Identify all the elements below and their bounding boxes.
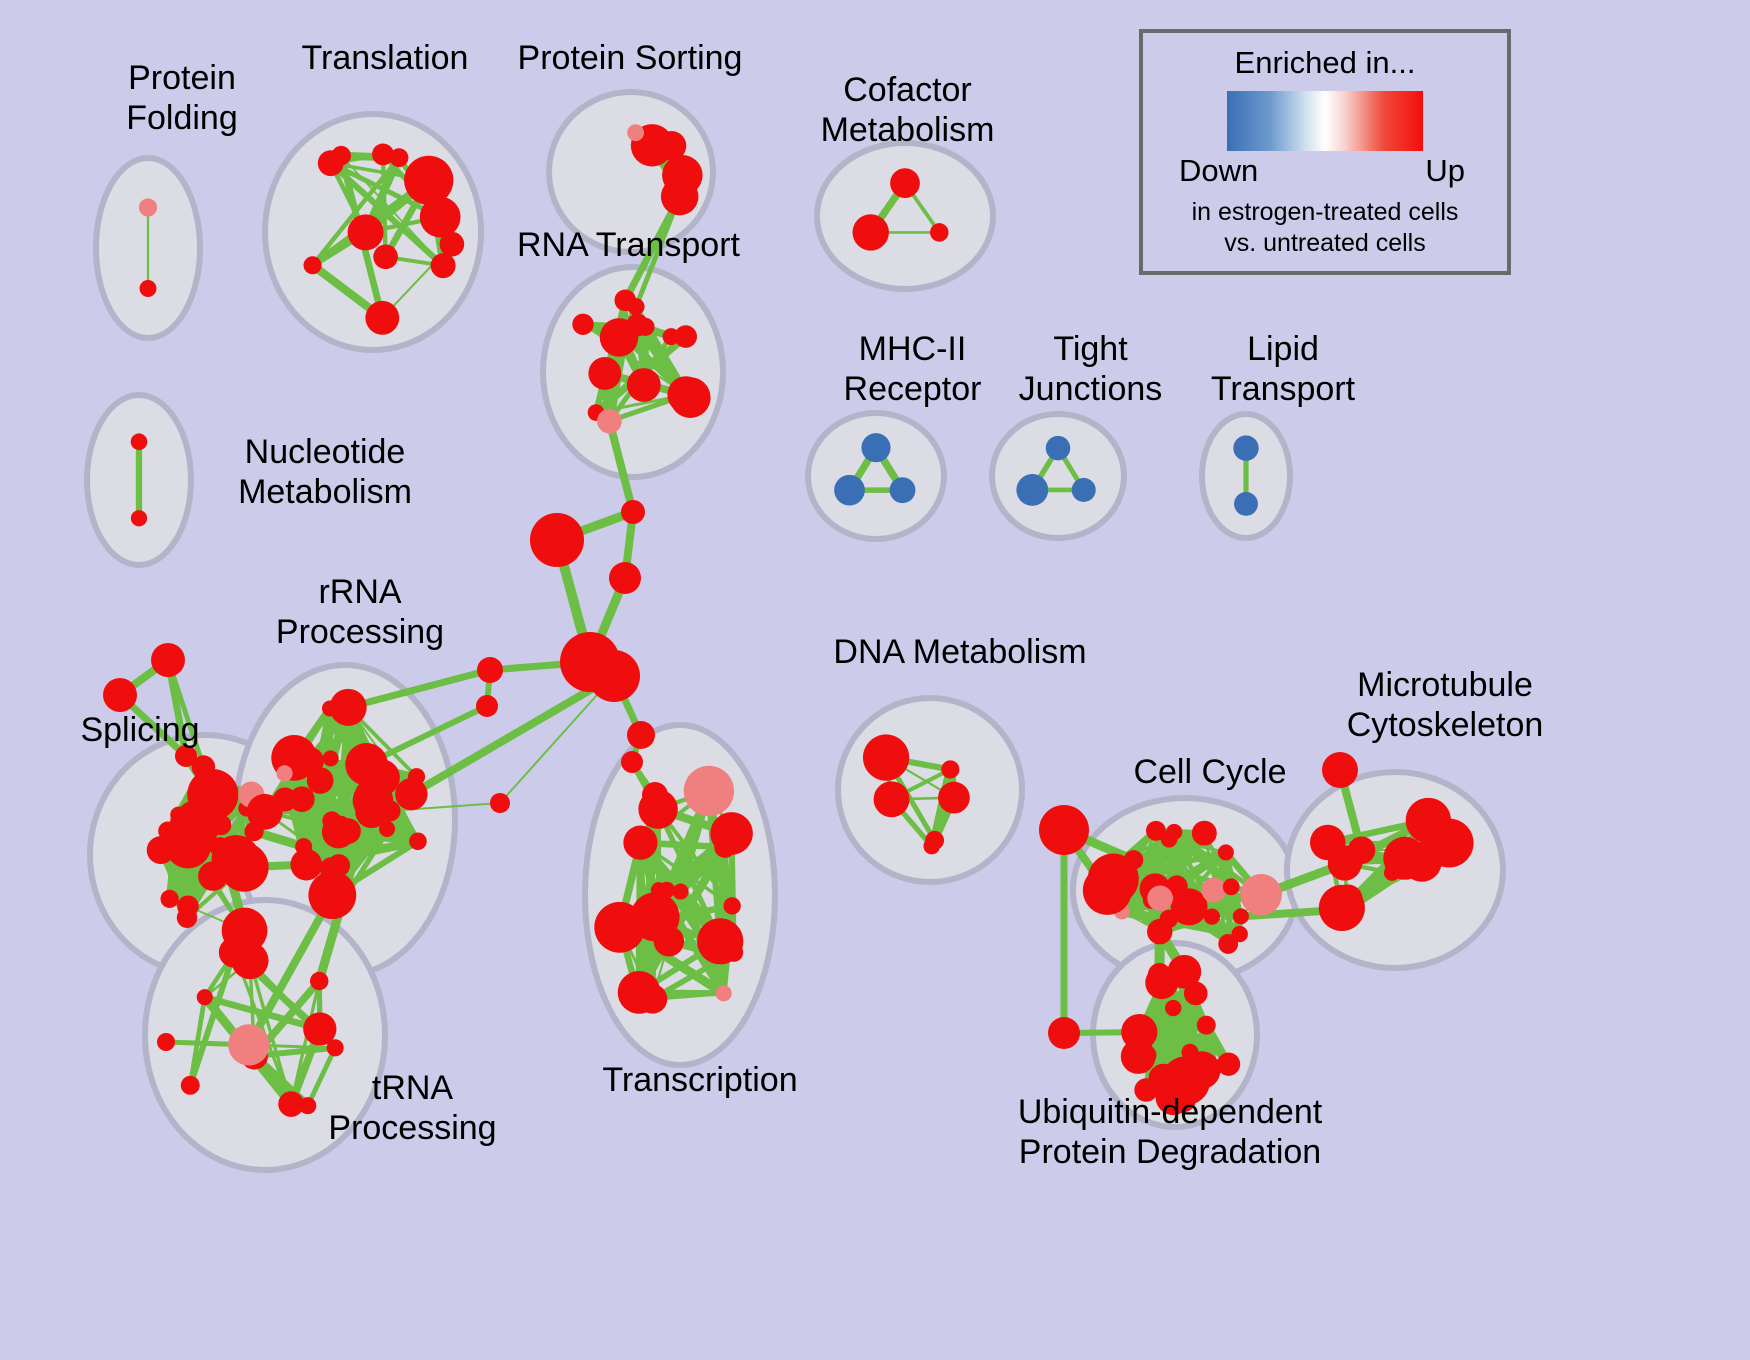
- cluster-label-transcription: Transcription: [570, 1060, 830, 1100]
- network-node[interactable]: [890, 477, 916, 503]
- network-node[interactable]: [1072, 478, 1096, 502]
- network-node[interactable]: [673, 884, 689, 900]
- network-node[interactable]: [630, 987, 646, 1003]
- network-node[interactable]: [1446, 841, 1463, 858]
- network-node[interactable]: [147, 836, 175, 864]
- cluster-label-translation: Translation: [265, 38, 505, 78]
- network-node[interactable]: [874, 781, 910, 817]
- network-node[interactable]: [353, 780, 394, 821]
- network-node[interactable]: [170, 812, 188, 830]
- network-node[interactable]: [674, 325, 697, 348]
- network-node[interactable]: [1233, 435, 1258, 460]
- cluster-ellipse-tight-junctions: [992, 414, 1124, 538]
- cluster-label-trna-processing: tRNA Processing: [305, 1068, 520, 1148]
- legend-up-label: Up: [1425, 153, 1465, 189]
- cluster-label-cell-cycle: Cell Cycle: [1100, 752, 1320, 792]
- network-node[interactable]: [631, 892, 680, 941]
- network-node[interactable]: [1181, 1044, 1198, 1061]
- network-node[interactable]: [1159, 910, 1177, 928]
- network-node[interactable]: [723, 897, 740, 914]
- network-node[interactable]: [440, 232, 465, 257]
- network-node[interactable]: [1402, 842, 1442, 882]
- network-node[interactable]: [348, 214, 384, 250]
- network-node[interactable]: [197, 989, 213, 1005]
- legend-colorbar: [1227, 91, 1423, 151]
- network-node[interactable]: [890, 168, 920, 198]
- cluster-label-splicing: Splicing: [50, 710, 230, 750]
- cluster-label-ubiquitin-protein-degradation: Ubiquitin-dependent Protein Degradation: [985, 1092, 1355, 1172]
- network-node[interactable]: [409, 833, 427, 851]
- network-node[interactable]: [667, 376, 704, 413]
- network-node[interactable]: [1126, 1050, 1142, 1066]
- network-node[interactable]: [600, 318, 639, 357]
- network-node[interactable]: [1223, 878, 1240, 895]
- network-node[interactable]: [834, 475, 865, 506]
- network-node[interactable]: [1039, 805, 1089, 855]
- network-node[interactable]: [404, 156, 453, 205]
- network-node[interactable]: [1197, 1016, 1216, 1035]
- cluster-label-protein-folding: Protein Folding: [72, 58, 292, 138]
- network-node[interactable]: [276, 765, 292, 781]
- network-node[interactable]: [431, 253, 456, 278]
- network-node[interactable]: [861, 433, 890, 462]
- network-node[interactable]: [1206, 1059, 1223, 1076]
- network-node[interactable]: [228, 1024, 269, 1065]
- network-node[interactable]: [181, 1076, 200, 1095]
- network-node[interactable]: [662, 155, 703, 196]
- network-node[interactable]: [627, 368, 661, 402]
- network-node[interactable]: [1048, 1017, 1080, 1049]
- network-node[interactable]: [379, 821, 395, 837]
- network-node[interactable]: [938, 782, 970, 814]
- network-node[interactable]: [408, 768, 425, 785]
- network-node[interactable]: [278, 1091, 304, 1117]
- network-node[interactable]: [322, 815, 355, 848]
- network-node[interactable]: [597, 409, 622, 434]
- network-node[interactable]: [621, 751, 643, 773]
- network-node[interactable]: [651, 882, 667, 898]
- network-node[interactable]: [1384, 865, 1400, 881]
- network-node[interactable]: [345, 743, 388, 786]
- cluster-ellipse-mhc-ii-receptor: [808, 413, 944, 539]
- network-node[interactable]: [852, 214, 888, 250]
- network-node[interactable]: [295, 838, 312, 855]
- network-node[interactable]: [219, 937, 250, 968]
- network-node[interactable]: [638, 789, 677, 828]
- network-node[interactable]: [157, 1033, 175, 1051]
- network-node[interactable]: [177, 907, 197, 927]
- cluster-label-dna-metabolism: DNA Metabolism: [810, 632, 1110, 672]
- network-node[interactable]: [1322, 752, 1358, 788]
- cluster-ellipse-cofactor-metabolism: [817, 143, 993, 289]
- network-node[interactable]: [307, 767, 334, 794]
- network-node[interactable]: [1083, 866, 1132, 915]
- network-node[interactable]: [140, 280, 157, 297]
- network-node[interactable]: [623, 826, 657, 860]
- network-node[interactable]: [572, 314, 593, 335]
- network-node[interactable]: [724, 943, 743, 962]
- network-node[interactable]: [365, 301, 399, 335]
- network-node[interactable]: [131, 433, 148, 450]
- network-node[interactable]: [1201, 878, 1226, 903]
- network-node[interactable]: [476, 695, 498, 717]
- network-node[interactable]: [530, 513, 584, 567]
- legend-down-label: Down: [1179, 153, 1258, 189]
- network-node[interactable]: [323, 750, 339, 766]
- network-node[interactable]: [303, 1012, 336, 1045]
- cluster-label-rna-transport: RNA Transport: [486, 225, 771, 265]
- network-node[interactable]: [627, 721, 655, 749]
- network-node[interactable]: [684, 766, 734, 816]
- cluster-label-cofactor-metabolism: Cofactor Metabolism: [790, 70, 1025, 150]
- network-node[interactable]: [1165, 1000, 1181, 1016]
- network-node[interactable]: [372, 143, 394, 165]
- network-node[interactable]: [161, 890, 179, 908]
- network-node[interactable]: [609, 562, 641, 594]
- network-node[interactable]: [273, 787, 297, 811]
- cluster-ellipse-dna-metabolism: [838, 698, 1022, 882]
- network-node[interactable]: [863, 734, 909, 780]
- network-node[interactable]: [304, 256, 322, 274]
- network-node[interactable]: [373, 244, 398, 269]
- network-node[interactable]: [131, 510, 147, 526]
- cluster-label-protein-sorting: Protein Sorting: [490, 38, 770, 78]
- network-node[interactable]: [1192, 821, 1217, 846]
- network-node[interactable]: [1145, 966, 1178, 999]
- network-node[interactable]: [930, 223, 949, 242]
- network-node[interactable]: [1147, 886, 1173, 912]
- cluster-label-lipid-transport: Lipid Transport: [1178, 329, 1388, 409]
- network-node[interactable]: [1234, 492, 1258, 516]
- cluster-label-nucleotide-metabolism: Nucleotide Metabolism: [200, 432, 450, 512]
- network-node[interactable]: [1204, 909, 1220, 925]
- network-node[interactable]: [151, 643, 185, 677]
- network-node[interactable]: [1016, 474, 1048, 506]
- network-node[interactable]: [941, 760, 959, 778]
- network-node[interactable]: [627, 124, 644, 141]
- edge: [411, 676, 614, 794]
- network-node[interactable]: [923, 838, 940, 855]
- network-node[interactable]: [209, 837, 229, 857]
- network-figure: Enriched in... Down Up in estrogen-treat…: [0, 0, 1750, 1360]
- network-node[interactable]: [1310, 825, 1346, 861]
- network-node[interactable]: [1240, 874, 1282, 916]
- network-node[interactable]: [627, 298, 644, 315]
- legend-caption: in estrogen-treated cells vs. untreated …: [1143, 197, 1507, 259]
- network-node[interactable]: [327, 854, 350, 877]
- network-node[interactable]: [1326, 899, 1357, 930]
- network-node[interactable]: [716, 985, 732, 1001]
- network-node[interactable]: [621, 500, 645, 524]
- network-node[interactable]: [139, 198, 157, 216]
- network-node[interactable]: [1233, 908, 1249, 924]
- network-node[interactable]: [318, 150, 344, 176]
- network-node[interactable]: [477, 657, 503, 683]
- network-node[interactable]: [1046, 436, 1071, 461]
- network-node[interactable]: [588, 357, 621, 390]
- network-node[interactable]: [714, 836, 735, 857]
- legend-title: Enriched in...: [1143, 45, 1507, 81]
- network-node[interactable]: [1231, 926, 1247, 942]
- network-node[interactable]: [490, 793, 510, 813]
- cluster-label-tight-junctions: Tight Junctions: [988, 329, 1193, 409]
- network-node[interactable]: [1146, 821, 1166, 841]
- cluster-label-microtubule-cytoskeleton: Microtubule Cytoskeleton: [1310, 665, 1580, 745]
- network-node[interactable]: [1218, 844, 1234, 860]
- network-node[interactable]: [322, 700, 338, 716]
- network-node[interactable]: [187, 769, 238, 820]
- legend-box: Enriched in... Down Up in estrogen-treat…: [1139, 29, 1511, 275]
- cluster-label-rrna-processing: rRNA Processing: [250, 572, 470, 652]
- edge: [383, 154, 386, 256]
- network-node[interactable]: [310, 972, 328, 990]
- network-node[interactable]: [103, 678, 137, 712]
- network-node[interactable]: [1166, 824, 1182, 840]
- network-node[interactable]: [588, 650, 640, 702]
